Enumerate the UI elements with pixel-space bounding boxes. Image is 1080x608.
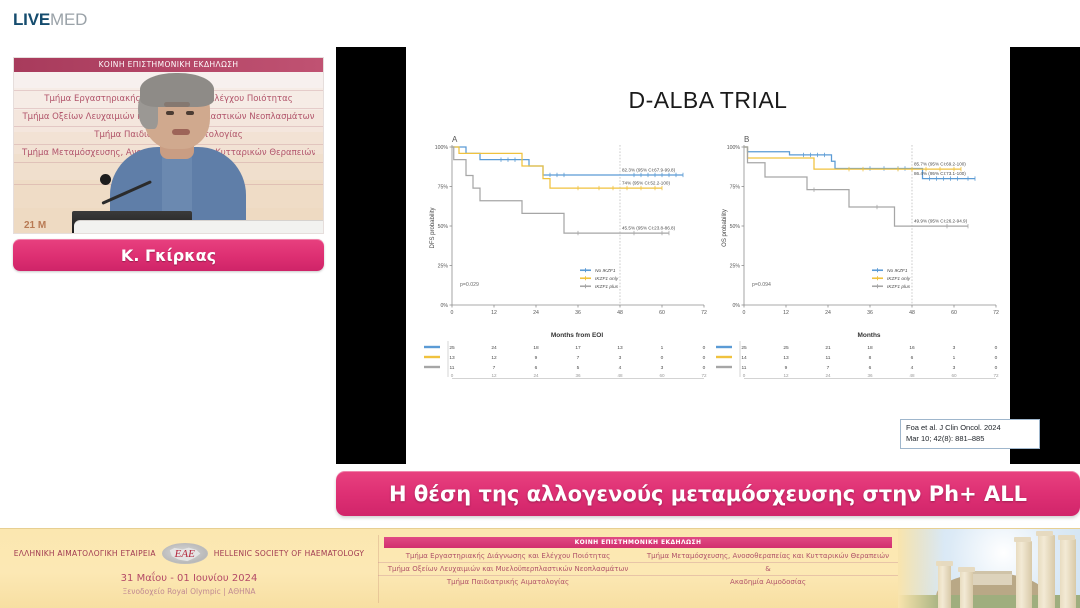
speaker-nameplate: Κ. Γκίρκας [13,239,324,271]
slide-stage[interactable]: D-ALBA TRIAL A DFS probability 0%25%50%7… [336,47,1080,464]
footer-dept-item: Τμήμα Οξείων Λευχαιμιών και Μυελοϋπερπλα… [378,563,638,576]
speaker-brow [164,102,190,107]
svg-text:0: 0 [661,355,664,361]
svg-text:25: 25 [449,345,455,351]
footer-dept-item: & [638,563,898,576]
svg-text:9: 9 [785,365,788,371]
svg-text:25: 25 [783,345,789,351]
svg-text:No IKZF1: No IKZF1 [595,268,616,274]
temple-column-icon [1060,539,1076,608]
svg-text:18: 18 [533,345,539,351]
microphone-icon [100,174,111,185]
svg-text:13: 13 [617,345,623,351]
svg-text:25%: 25% [438,264,449,270]
speaker-eye-right [186,111,194,115]
svg-text:12: 12 [491,355,497,361]
footer-event-info: ΚΟΙΝΗ ΕΠΙΣΤΗΜΟΝΙΚΗ ΕΚΔΗΛΩΣΗ Τμήμα Εργαστ… [378,533,898,607]
svg-text:0: 0 [995,355,998,361]
svg-text:3: 3 [661,365,664,371]
svg-text:60: 60 [659,310,665,316]
svg-text:48: 48 [617,373,623,378]
slide-title: D-ALBA TRIAL [406,87,1010,114]
svg-text:0: 0 [451,373,454,378]
svg-text:0%: 0% [733,303,741,309]
svg-text:48: 48 [909,373,915,378]
svg-text:3: 3 [953,345,956,351]
podium-desk [74,220,324,233]
svg-text:p=0.029: p=0.029 [460,282,479,288]
svg-text:60: 60 [951,373,957,378]
society-name-greek: ΕΛΛΗΝΙΚΗ ΑΙΜΑΤΟΛΟΓΙΚΗ ΕΤΑΙΡΕΙΑ [14,549,156,558]
temple-column-icon [1038,535,1055,608]
panel-b-risk-table: 2525211816301413118610119764300122436486… [706,339,1002,381]
svg-text:4: 4 [619,365,622,371]
svg-text:24: 24 [491,345,497,351]
svg-text:14: 14 [741,355,747,361]
speaker-name: Κ. Γκίρκας [121,246,216,265]
citation-line-2: Mar 10; 42(8): 881–885 [906,434,1034,445]
footer-dept-item: Τμήμα Εργαστηριακής Διάγνωσης και Ελέγχο… [378,550,638,563]
svg-text:72: 72 [993,310,999,316]
svg-text:25%: 25% [730,264,741,270]
event-date: 31 Μαΐου - 01 Ιουνίου 2024 [0,573,378,584]
svg-text:17: 17 [575,345,581,351]
speaker-eye-left [166,111,174,115]
svg-text:13: 13 [449,355,455,361]
svg-text:0: 0 [995,365,998,371]
presentation-title-banner: Η θέση της αλλογενούς μεταμόσχευσης στην… [336,471,1080,516]
svg-text:36: 36 [867,373,873,378]
livemed-logo: LIVEMED [13,10,87,30]
svg-text:49.9% (95% CI:26.2-94.9): 49.9% (95% CI:26.2-94.9) [914,219,968,224]
svg-text:48: 48 [909,310,915,316]
society-logo-icon: ΕΑΕ [162,543,208,564]
svg-text:7: 7 [577,355,580,361]
panel-a-risk-table: 2524181713101312973001176543001224364860… [414,339,710,381]
svg-text:3: 3 [619,355,622,361]
backdrop-header-bar: ΚΟΙΝΗ ΕΠΙΣΤΗΜΟΝΙΚΗ ΕΚΔΗΛΩΣΗ [14,58,323,72]
speaker-mouth [172,129,190,135]
svg-text:36: 36 [575,310,581,316]
svg-text:0: 0 [995,345,998,351]
svg-text:60: 60 [951,310,957,316]
speaker-panel: ΚΟΙΝΗ ΕΠΙΣΤΗΜΟΝΙΚΗ ΕΚΔΗΛΩΣΗ Τμήμα Εργαστ… [13,57,324,271]
svg-text:50%: 50% [438,224,449,230]
svg-text:36: 36 [867,310,873,316]
svg-text:12: 12 [783,310,789,316]
svg-text:1: 1 [953,355,956,361]
svg-text:13: 13 [783,355,789,361]
svg-text:25: 25 [741,345,747,351]
logo-live-text: LIVE [13,10,50,29]
svg-text:75%: 75% [438,185,449,191]
society-logo-text: ΕΑΕ [163,544,207,563]
svg-text:72: 72 [993,373,999,378]
svg-text:IKZF1 plus: IKZF1 plus [887,284,911,290]
panel-b-x-axis-label: Months [736,332,1002,339]
svg-text:100%: 100% [435,145,449,151]
svg-text:IKZF1 plus: IKZF1 plus [595,284,619,290]
svg-text:3: 3 [953,365,956,371]
svg-text:16: 16 [909,345,915,351]
svg-text:No IKZF1: No IKZF1 [887,268,908,274]
svg-text:11: 11 [450,365,455,371]
backdrop-corner-number: 21 Μ [24,220,46,231]
svg-text:85.7% (95% CI:69.2-100): 85.7% (95% CI:69.2-100) [914,162,966,167]
svg-text:p=0.094: p=0.094 [752,282,771,288]
panel-a-x-axis-label: Months from EOI [444,332,710,339]
citation-box: Foa et al. J Clin Oncol. 2024 Mar 10; 42… [900,419,1040,449]
svg-text:IKZF1 only: IKZF1 only [595,276,619,282]
footer-dept-item: Ακαδημία Αιμοδοσίας [638,576,898,588]
svg-text:5: 5 [577,365,580,371]
svg-text:12: 12 [491,373,497,378]
svg-text:100%: 100% [727,145,741,151]
footer-right-departments: Τμήμα Μεταμόσχευσης, Ανοσοθεραπείας και … [638,550,898,587]
presentation-title: Η θέση της αλλογενούς μεταμόσχευσης στην… [389,482,1027,506]
webcast-viewer: LIVEMED ΚΟΙΝΗ ΕΠΙΣΤΗΜΟΝΙΚΗ ΕΚΔΗΛΩΣΗ Τμήμ… [0,0,1080,608]
temple-column-icon [960,571,973,608]
panel-b-plot: 0%25%50%75%100%0122436486072p=0.09486.4%… [706,133,1002,343]
svg-text:0: 0 [743,310,746,316]
chart-panel-b: B OS probability 0%25%50%75%100%01224364… [706,133,1002,383]
svg-text:7: 7 [827,365,830,371]
svg-text:1: 1 [661,345,664,351]
footer-society: ΕΛΛΗΝΙΚΗ ΑΙΜΑΤΟΛΟΓΙΚΗ ΕΤΑΙΡΕΙΑ ΕΑΕ HELLE… [0,529,378,608]
panel-a-plot: 0%25%50%75%100%0122436486072p=0.02982.3%… [414,133,710,343]
svg-text:24: 24 [825,310,831,316]
svg-text:24: 24 [533,310,539,316]
svg-text:0: 0 [743,373,746,378]
svg-text:45.5% (95% CI:23.8-86.8): 45.5% (95% CI:23.8-86.8) [622,226,676,231]
svg-text:7: 7 [493,365,496,371]
temple-column-icon [1016,541,1032,608]
svg-text:12: 12 [783,373,789,378]
svg-text:0: 0 [451,310,454,316]
svg-text:48: 48 [617,310,623,316]
svg-text:86.4% (95% CI:73.1-100): 86.4% (95% CI:73.1-100) [914,171,966,176]
kaplan-meier-figure: A DFS probability 0%25%50%75%100%0122436… [406,133,1010,383]
svg-text:75%: 75% [730,185,741,191]
backdrop-header-text: ΚΟΙΝΗ ΕΠΙΣΤΗΜΟΝΙΚΗ ΕΚΔΗΛΩΣΗ [14,58,323,72]
footer-left-departments: Τμήμα Εργαστηριακής Διάγνωσης και Ελέγχο… [378,550,638,587]
slide-content: D-ALBA TRIAL A DFS probability 0%25%50%7… [406,47,1010,464]
svg-text:82.3% (95% CI:67.9-99.8): 82.3% (95% CI:67.9-99.8) [622,167,676,172]
event-venue: Ξενοδοχείο Royal Olympic | ΑΘΗΝΑ [0,587,378,596]
svg-text:0%: 0% [441,303,449,309]
footer-department-columns: Τμήμα Εργαστηριακής Διάγνωσης και Ελέγχο… [378,550,898,587]
event-footer: ΕΛΛΗΝΙΚΗ ΑΙΜΑΤΟΛΟΓΙΚΗ ΕΤΑΙΡΕΙΑ ΕΑΕ HELLE… [0,528,1080,608]
society-name-english: HELLENIC SOCIETY OF HAEMATOLOGY [214,549,365,558]
svg-text:50%: 50% [730,224,741,230]
chart-panel-a: A DFS probability 0%25%50%75%100%0122436… [414,133,710,383]
svg-text:4: 4 [911,365,914,371]
svg-text:12: 12 [491,310,497,316]
svg-text:IKZF1 only: IKZF1 only [887,276,911,282]
photo-left-fade [898,529,944,608]
footer-event-header-text: ΚΟΙΝΗ ΕΠΙΣΤΗΜΟΝΙΚΗ ΕΚΔΗΛΩΣΗ [575,539,702,546]
footer-dept-item: Τμήμα Παιδιατρικής Αιματολογίας [378,576,638,588]
citation-line-1: Foa et al. J Clin Oncol. 2024 [906,423,1034,434]
svg-text:60: 60 [659,373,665,378]
speaker-video[interactable]: ΚΟΙΝΗ ΕΠΙΣΤΗΜΟΝΙΚΗ ΕΚΔΗΛΩΣΗ Τμήμα Εργαστ… [13,57,324,234]
svg-text:36: 36 [575,373,581,378]
svg-text:24: 24 [825,373,831,378]
svg-text:74% (95% CI:52.2-100): 74% (95% CI:52.2-100) [622,181,670,186]
svg-text:9: 9 [535,355,538,361]
svg-text:11: 11 [826,355,831,361]
svg-text:6: 6 [869,365,872,371]
svg-text:8: 8 [869,355,872,361]
footer-dept-item: Τμήμα Μεταμόσχευσης, Ανοσοθεραπείας και … [638,550,898,563]
svg-text:21: 21 [825,345,831,351]
logo-med-text: MED [50,10,87,29]
svg-text:11: 11 [742,365,747,371]
svg-text:24: 24 [533,373,539,378]
society-row: ΕΛΛΗΝΙΚΗ ΑΙΜΑΤΟΛΟΓΙΚΗ ΕΤΑΙΡΕΙΑ ΕΑΕ HELLE… [0,543,378,564]
footer-venue-photo [898,529,1080,608]
svg-text:6: 6 [535,365,538,371]
svg-text:6: 6 [911,355,914,361]
footer-event-header: ΚΟΙΝΗ ΕΠΙΣΤΗΜΟΝΙΚΗ ΕΚΔΗΛΩΣΗ [384,537,892,548]
svg-text:18: 18 [867,345,873,351]
